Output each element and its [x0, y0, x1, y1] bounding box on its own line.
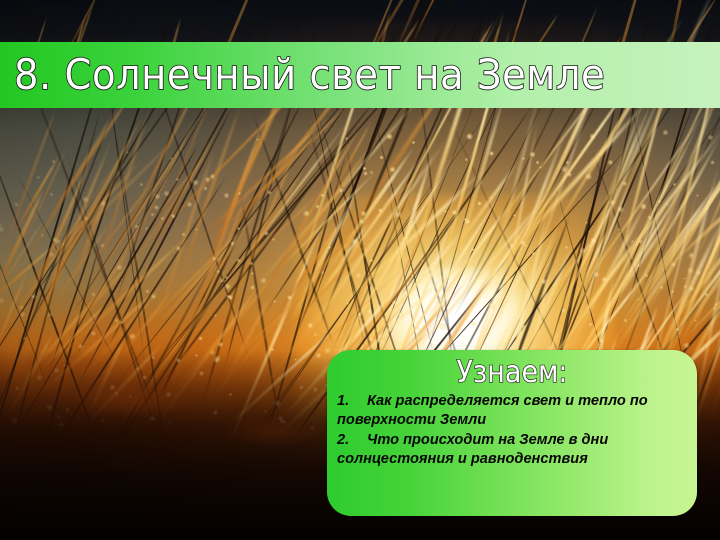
callout-item-number: 2.	[337, 431, 367, 450]
page-title: 8. Солнечный свет на Земле	[14, 41, 720, 109]
callout-list-item: 1.Как распределяется свет и тепло по пов…	[337, 392, 689, 430]
callout-item-number: 1.	[337, 392, 367, 411]
callout-item-text: Как распределяется свет и тепло по повер…	[337, 393, 648, 428]
callout-heading: Узнаем:	[327, 352, 697, 394]
callout-item-text: Что происходит на Земле в дни солнцестоя…	[337, 432, 608, 467]
callout-list-item: 2.Что происходит на Земле в дни солнцест…	[337, 431, 689, 469]
callout-list: 1.Как распределяется свет и тепло по пов…	[337, 392, 689, 470]
callout-box: Узнаем: 1.Как распределяется свет и тепл…	[327, 350, 697, 516]
slide-canvas: 8. Солнечный свет на Земле Узнаем: 1.Как…	[0, 0, 720, 540]
